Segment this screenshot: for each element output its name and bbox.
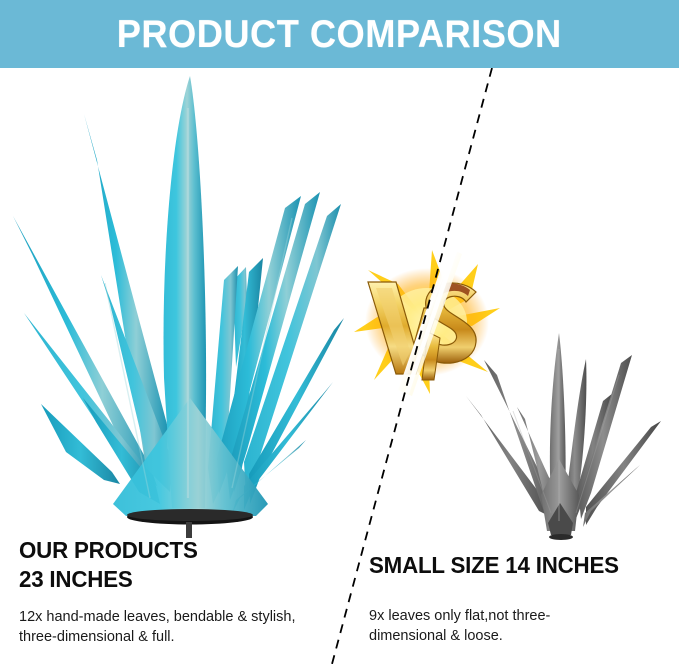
right-product-caption: SMALL SIZE 14 INCHES 9x leaves only flat… [369,551,669,646]
page-title: PRODUCT COMPARISON [117,15,562,54]
right-product-description: 9x leaves only flat,not three- dimension… [369,606,669,646]
left-product-caption: OUR PRODUCTS 23 INCHES 12x hand-made lea… [19,536,339,647]
vs-starburst-icon [352,248,502,396]
header-banner: PRODUCT COMPARISON [0,0,679,68]
left-product-title: OUR PRODUCTS 23 INCHES [19,536,329,593]
left-product-description: 12x hand-made leaves, bendable & stylish… [19,607,339,647]
teal-agave-plant-icon [0,68,345,538]
product-comparison-graphic: PRODUCT COMPARISON [0,0,679,664]
right-product-title: SMALL SIZE 14 INCHES [369,551,660,580]
comparison-stage: OUR PRODUCTS 23 INCHES 12x hand-made lea… [0,68,679,664]
